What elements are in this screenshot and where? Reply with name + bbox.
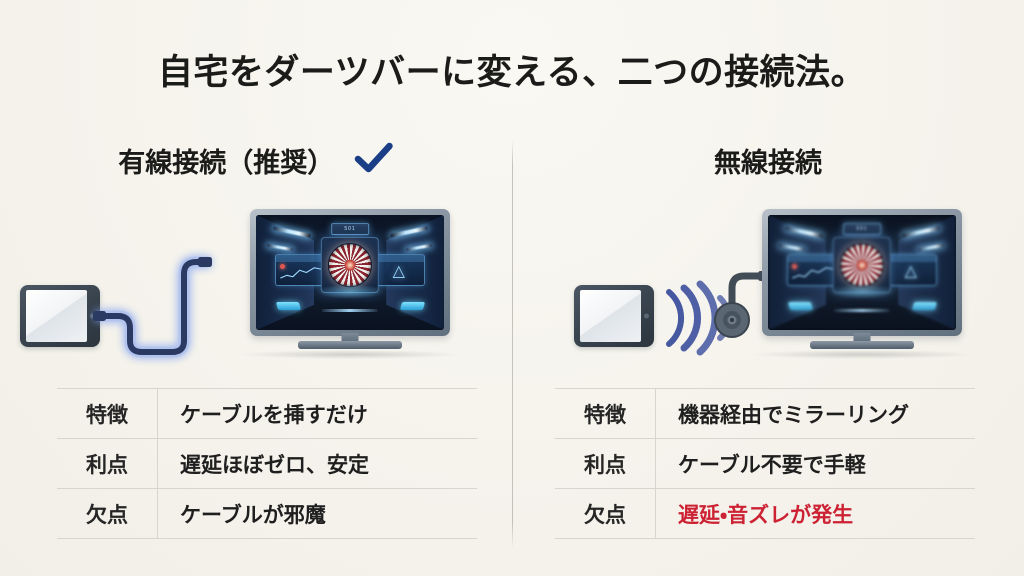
table-cell-value: ケーブルが邪魔 [158, 489, 478, 539]
scene-screen-left [787, 254, 840, 286]
tv-stand-base [810, 341, 914, 349]
table-cell-value: 機器経由でミラーリング [656, 389, 976, 439]
table-cell-value: 遅延・音ズレが発生 [656, 489, 976, 539]
scene-floor-glow [316, 284, 384, 299]
table-cell-value: ケーブル不要で手軽 [656, 439, 976, 489]
table-cell-key: 利点 [555, 439, 656, 489]
scene-floor-strip-left [276, 302, 301, 310]
table-row: 利点 遅延ほぼゼロ、安定 [57, 439, 477, 489]
table-row: 特徴 ケーブルを挿すだけ [57, 389, 477, 439]
dartboard-icon [328, 243, 372, 287]
tv-screen: △ 501 [768, 215, 956, 330]
tablet-device-wireless [574, 285, 654, 347]
illustration-wireless: △ 501 [512, 200, 1024, 375]
column-heading-wired: 有線接続（推奨） [0, 141, 512, 181]
scene-floor-strip-right [912, 302, 937, 310]
tv-shadow [240, 350, 460, 359]
table-row: 特徴 機器経由でミラーリング [555, 389, 975, 439]
slide-root: 自宅をダーツバーに変える、二つの接続法。 有線接続（推奨） [0, 0, 1024, 576]
column-wired: 有線接続（推奨） [0, 0, 512, 576]
table-cell-value: ケーブルを挿すだけ [158, 389, 478, 439]
scene-oche-line [322, 309, 378, 312]
table-cell-key: 特徴 [57, 389, 158, 439]
illustration-wired: △ 501 [0, 200, 512, 375]
tv-bezel: △ 501 [250, 209, 450, 336]
table-cell-key: 利点 [57, 439, 158, 489]
tv-bezel: △ 501 [762, 209, 962, 336]
cable-plug-tv [198, 257, 212, 267]
check-mark-icon [354, 142, 394, 181]
scene-screen-right: △ [372, 254, 425, 286]
spec-table-wireless: 特徴 機器経由でミラーリング 利点 ケーブル不要で手軽 欠点 遅延・音ズレが発生 [555, 388, 975, 539]
column-heading-wireless-label: 無線接続 [714, 148, 822, 178]
scene-screen-right: △ [884, 254, 937, 286]
tablet-home-button-icon [90, 314, 95, 319]
tv-screen: △ 501 [256, 215, 444, 330]
scene-chart-line [280, 266, 323, 280]
tablet-screen [580, 290, 641, 342]
tablet-screen [26, 290, 87, 342]
scene-oche-line [834, 309, 890, 312]
bell-icon: △ [905, 261, 917, 281]
scene-floor-glow [828, 284, 896, 299]
spec-table-wired: 特徴 ケーブルを挿すだけ 利点 遅延ほぼゼロ、安定 欠点 ケーブルが邪魔 [57, 388, 477, 539]
table-cell-value: 遅延ほぼゼロ、安定 [158, 439, 478, 489]
table-row: 欠点 遅延・音ズレが発生 [555, 489, 975, 539]
television-wired: △ 501 [250, 209, 450, 340]
tablet-device-wired [20, 285, 100, 347]
table-cell-key: 欠点 [57, 489, 158, 539]
darts-bar-scene: △ 501 [256, 215, 444, 330]
column-heading-wireless: 無線接続 [512, 141, 1024, 180]
scene-floor-strip-right [400, 302, 425, 310]
column-heading-wired-label: 有線接続（推奨） [118, 148, 334, 178]
tv-shadow [752, 350, 972, 359]
tv-stand-base [298, 341, 402, 349]
column-wireless: 無線接続 [512, 0, 1024, 576]
television-wireless: △ 501 [762, 209, 962, 340]
table-row: 欠点 ケーブルが邪魔 [57, 489, 477, 539]
darts-bar-scene: △ 501 [768, 215, 956, 330]
scene-scoreboard: 501 [843, 223, 881, 235]
dartboard-icon [840, 243, 884, 287]
bell-icon: △ [393, 261, 405, 281]
table-row: 利点 ケーブル不要で手軽 [555, 439, 975, 489]
scene-scoreboard-text: 501 [845, 225, 879, 233]
tablet-home-button-icon [644, 314, 649, 319]
table-cell-key: 欠点 [555, 489, 656, 539]
scene-chart-line [792, 266, 835, 280]
scene-floor-strip-left [788, 302, 813, 310]
table-cell-key: 特徴 [555, 389, 656, 439]
scene-scoreboard-text: 501 [333, 225, 367, 233]
scene-scoreboard: 501 [331, 223, 369, 235]
scene-screen-left [275, 254, 328, 286]
